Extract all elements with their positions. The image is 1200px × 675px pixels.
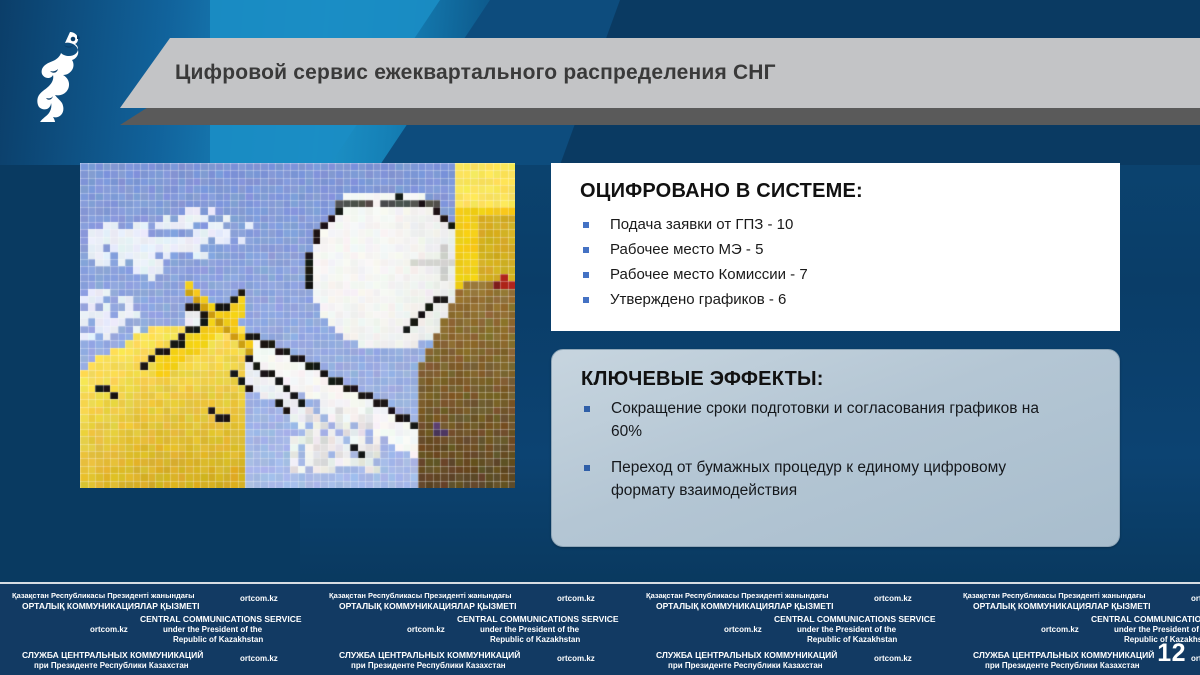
footer-url: ortcom.kz [874,654,912,663]
list-item: Сокращение сроки подготовки и согласован… [581,397,1051,443]
footer-kz-line2: ОРТАЛЫҚ КОММУНИКАЦИЯЛАР ҚЫЗМЕТІ [339,601,516,611]
list-item: Рабочее место МЭ - 5 [580,237,1120,262]
footer-url: ortcom.kz [724,625,762,634]
footer-ru-line1: СЛУЖБА ЦЕНТРАЛЬНЫХ КОММУНИКАЦИЙ [973,650,1154,660]
page-title: Цифровой сервис ежеквартального распреде… [175,61,776,85]
footer-en-line1: CENTRAL COMMUNICATIONS SERVICE [774,614,936,624]
footer-kz-line2: ОРТАЛЫҚ КОММУНИКАЦИЯЛАР ҚЫЗМЕТІ [656,601,833,611]
header-banner: Цифровой сервис ежеквартального распреде… [120,38,1200,108]
footer-en-line2: under the President of the [797,625,896,634]
list-item-label: Утверждено графиков - 6 [610,291,786,308]
bullet-square-icon [583,272,589,278]
list-item-label: Рабочее место МЭ - 5 [610,241,763,258]
list-item: Утверждено графиков - 6 [580,287,1120,312]
footer-url: ortcom.kz [1191,594,1200,603]
list-item: Рабочее место Комиссии - 7 [580,262,1120,287]
footer-url: ortcom.kz [557,594,595,603]
footer-en-line1: CENTRAL COMMUNICATIONS SERVICE [457,614,619,624]
footer-kz-line1: Қазақстан Республикасы Президенті жанынд… [329,591,511,600]
bullet-square-icon [583,297,589,303]
pixelated-photo [80,163,515,488]
footer-url: ortcom.kz [407,625,445,634]
footer-kz-line2: ОРТАЛЫҚ КОММУНИКАЦИЯЛАР ҚЫЗМЕТІ [973,601,1150,611]
footer-url: ortcom.kz [240,654,278,663]
footer-tile: Қазақстан Республикасы Президенті жанынд… [0,584,317,675]
footer-ru-line2: при Президенте Республики Казахстан [985,661,1140,670]
footer-url: ortcom.kz [874,594,912,603]
footer-en-line3: Republic of Kazakhstan [490,635,580,644]
bullet-square-icon [583,222,589,228]
white-card-list: Подача заявки от ГПЗ - 10 Рабочее место … [551,212,1120,312]
footer-en-line1: CENTRAL COMMUNICATIONS SERVICE [140,614,302,624]
footer-url: ortcom.kz [1191,654,1200,663]
footer-ru-line1: СЛУЖБА ЦЕНТРАЛЬНЫХ КОММУНИКАЦИЙ [339,650,520,660]
page-number: 12 [1157,639,1186,668]
footer-tile: Қазақстан Республикасы Президенті жанынд… [317,584,634,675]
footer-kz-line2: ОРТАЛЫҚ КОММУНИКАЦИЯЛАР ҚЫЗМЕТІ [22,601,199,611]
footer-kz-line1: Қазақстан Республикасы Президенті жанынд… [963,591,1145,600]
footer-url: ortcom.kz [240,594,278,603]
footer-tile: Қазақстан Республикасы Президенті жанынд… [634,584,951,675]
footer-url: ortcom.kz [90,625,128,634]
footer-ru-line2: при Президенте Республики Казахстан [351,661,506,670]
footer-en-line2: under the President of the [480,625,579,634]
slide-root: Цифровой сервис ежеквартального распреде… [0,0,1200,675]
footer-en-line2: under the President of the [163,625,262,634]
footer-ru-line1: СЛУЖБА ЦЕНТРАЛЬНЫХ КОММУНИКАЦИЙ [656,650,837,660]
bullet-square-icon [583,247,589,253]
list-item-label: Подача заявки от ГПЗ - 10 [610,216,793,233]
footer-en-line1: CENTRAL COMMUNICATIONS SERVICE [1091,614,1200,624]
footer-kz-line1: Қазақстан Республикасы Президенті жанынд… [12,591,194,600]
list-item-label: Рабочее место Комиссии - 7 [610,266,808,283]
footer-kz-line1: Қазақстан Республикасы Президенті жанынд… [646,591,828,600]
footer-logo-strip: Қазақстан Республикасы Президенті жанынд… [0,584,1200,675]
snow-leopard-emblem-icon [26,26,98,122]
list-item: Подача заявки от ГПЗ - 10 [580,212,1120,237]
footer-bar: Қазақстан Республикасы Президенті жанынд… [0,582,1200,675]
list-item-label: Переход от бумажных процедур к единому ц… [611,459,1006,499]
bullet-square-icon [584,406,590,412]
footer-ru-line1: СЛУЖБА ЦЕНТРАЛЬНЫХ КОММУНИКАЦИЙ [22,650,203,660]
footer-url: ortcom.kz [1041,625,1079,634]
footer-en-line3: Republic of Kazakhstan [173,635,263,644]
list-item-label: Сокращение сроки подготовки и согласован… [611,400,1039,440]
list-item: Переход от бумажных процедур к единому ц… [581,456,1051,502]
footer-ru-line2: при Президенте Республики Казахстан [34,661,189,670]
footer-url: ortcom.kz [557,654,595,663]
blue-card-list: Сокращение сроки подготовки и согласован… [552,397,1119,502]
white-card-title: ОЦИФРОВАНО В СИСТЕМЕ: [580,180,1120,203]
digitized-in-system-card: ОЦИФРОВАНО В СИСТЕМЕ: Подача заявки от Г… [551,163,1120,331]
footer-ru-line2: при Президенте Республики Казахстан [668,661,823,670]
bullet-square-icon [584,465,590,471]
footer-en-line2: under the President of the [1114,625,1200,634]
footer-en-line3: Republic of Kazakhstan [807,635,897,644]
blue-card-title: КЛЮЧЕВЫЕ ЭФФЕКТЫ: [581,368,1119,391]
key-effects-card: КЛЮЧЕВЫЕ ЭФФЕКТЫ: Сокращение сроки подго… [551,349,1120,547]
